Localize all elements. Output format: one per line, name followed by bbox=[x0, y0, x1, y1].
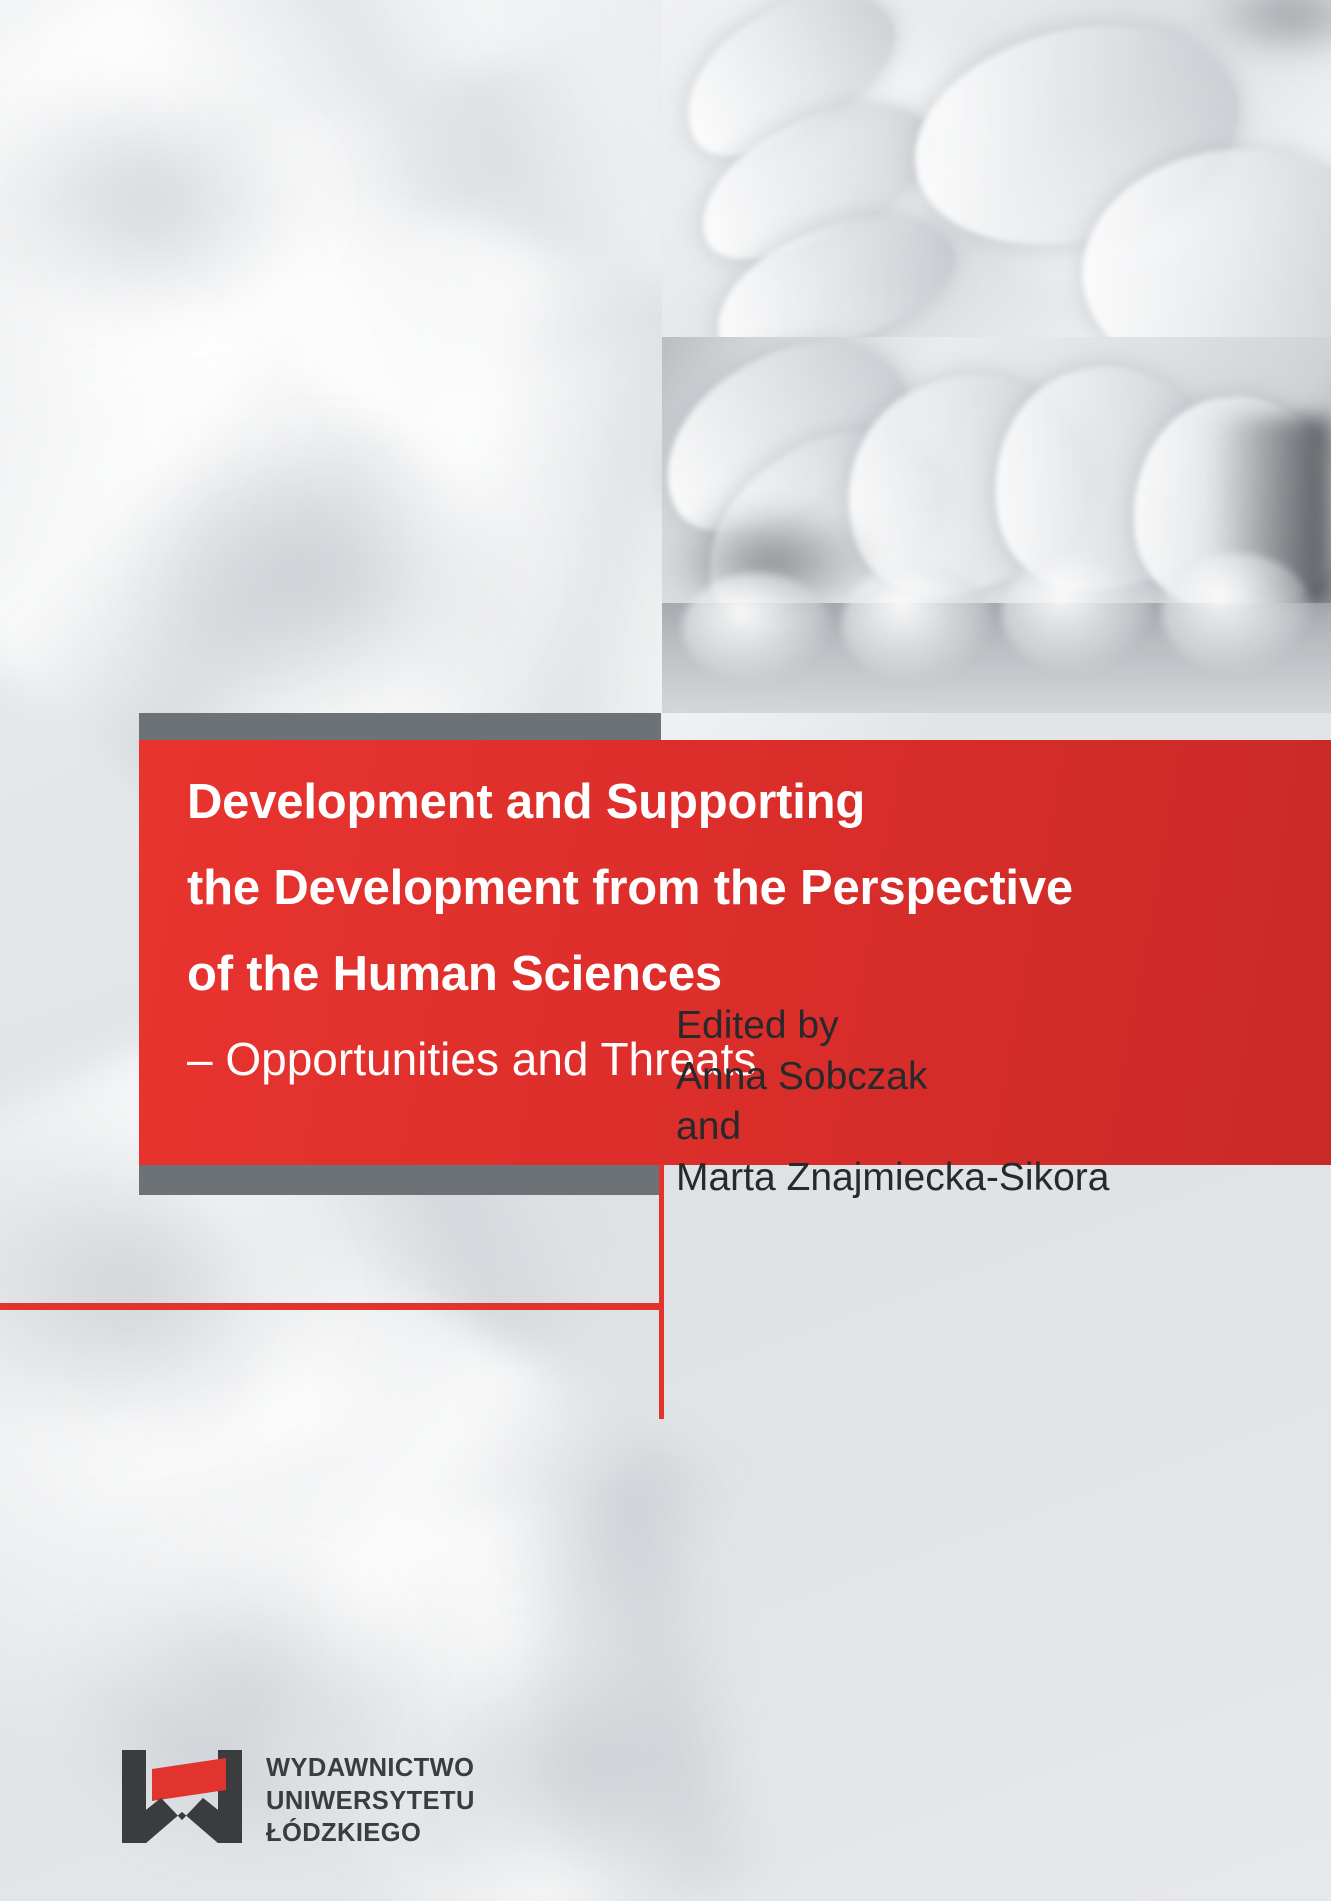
publisher-name: WYDAWNICTWO UNIWERSYTETU ŁÓDZKIEGO bbox=[266, 1752, 475, 1850]
fabric-shadow bbox=[120, 430, 540, 730]
fingernail-shape bbox=[682, 573, 832, 683]
hands-photo-top bbox=[662, 0, 1331, 337]
hands-photo-lower bbox=[662, 603, 1331, 713]
editor-name-1: Anna Sobczak bbox=[676, 1052, 1276, 1103]
publisher-line-1: WYDAWNICTWO bbox=[266, 1752, 475, 1785]
title-line-3: of the Human Sciences bbox=[187, 950, 1311, 999]
publisher-line-2: UNIWERSYTETU bbox=[266, 1785, 475, 1818]
title-line-2: the Development from the Perspective bbox=[187, 864, 1311, 913]
book-cover: Development and Supporting the Developme… bbox=[0, 0, 1331, 1901]
title-bottom-grey-bar bbox=[139, 1165, 662, 1195]
editors-block: Edited by Anna Sobczak and Marta Znajmie… bbox=[676, 1001, 1276, 1204]
title-top-grey-bar bbox=[139, 713, 661, 741]
photo-shadow bbox=[1202, 0, 1331, 60]
editors-conjunction: and bbox=[676, 1102, 1276, 1153]
vertical-red-rule bbox=[659, 1164, 664, 1419]
title-line-1: Development and Supporting bbox=[187, 778, 1311, 827]
lodz-university-press-logo-icon bbox=[122, 1750, 242, 1843]
fingernail-shape bbox=[1162, 553, 1312, 673]
fabric-shadow bbox=[0, 70, 330, 330]
editor-name-2: Marta Znajmiecka-Sikora bbox=[676, 1153, 1276, 1204]
fingernail-shape bbox=[842, 563, 992, 683]
fingernail-shape bbox=[1002, 553, 1152, 673]
publisher-logo-group: WYDAWNICTWO UNIWERSYTETU ŁÓDZKIEGO bbox=[122, 1750, 475, 1850]
publisher-line-3: ŁÓDZKIEGO bbox=[266, 1817, 475, 1850]
edited-by-label: Edited by bbox=[676, 1001, 1276, 1052]
horizontal-red-rule bbox=[0, 1303, 662, 1310]
